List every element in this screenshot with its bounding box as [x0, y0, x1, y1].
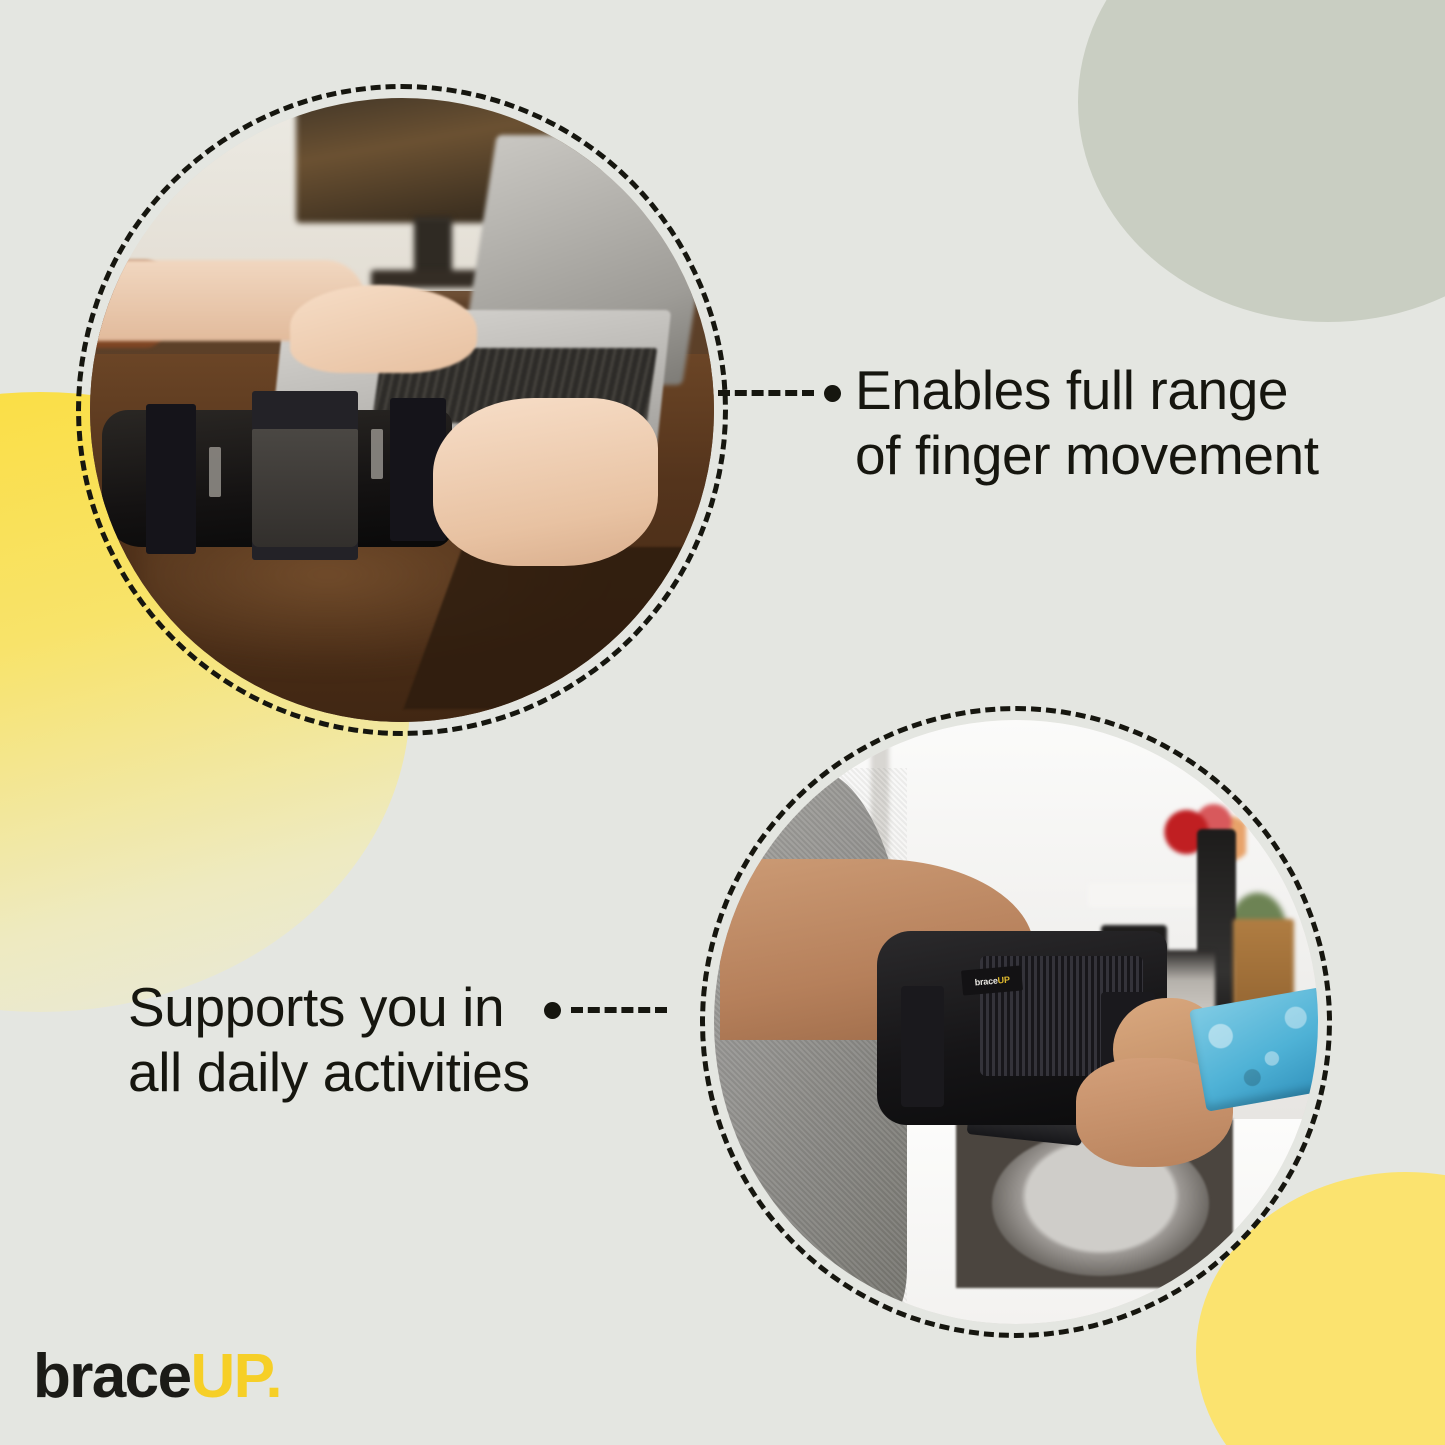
leader-dot-icon: [824, 385, 841, 402]
callout-finger-movement-text: Enables full range of finger movement: [855, 358, 1319, 488]
photo-washing-dishes: braceUP: [714, 720, 1318, 1324]
leader-line-daily-activities: [530, 975, 667, 1045]
brand-logo: braceUP.: [33, 1346, 281, 1408]
brace-tag-text-accent: UP: [997, 974, 1010, 985]
typing-hand: [290, 285, 477, 372]
sage-blob-decoration: [1078, 0, 1445, 322]
brace-buckle: [209, 447, 221, 497]
brace-strap: [901, 986, 943, 1107]
brand-logo-up: UP.: [190, 1342, 281, 1411]
brace-strap-pad: [252, 429, 358, 548]
braced-hand: [433, 398, 658, 566]
brace-strap: [146, 404, 196, 554]
photo-typing-at-laptop: [90, 98, 714, 722]
callout-daily-activities: Supports you in all daily activities: [128, 975, 667, 1105]
dashed-leader-icon: [571, 1007, 667, 1013]
dashed-leader-icon: [718, 390, 814, 396]
photo-circle-washing-dishes: braceUP: [700, 706, 1332, 1338]
leader-line-finger-movement: [718, 358, 855, 428]
photo-circle-typing-at-laptop: [76, 84, 728, 736]
callout-daily-activities-text: Supports you in all daily activities: [128, 975, 530, 1105]
leader-dot-icon: [544, 1002, 561, 1019]
callout-finger-movement: Enables full range of finger movement: [718, 358, 1319, 488]
brace-buckle: [371, 429, 383, 479]
brace-tag-text-dark: brace: [974, 975, 998, 987]
infographic-canvas: braceUP Enables full range of finger mov…: [0, 0, 1445, 1445]
brand-logo-brace: brace: [33, 1342, 190, 1411]
brace-logo-tag: braceUP: [961, 965, 1023, 996]
